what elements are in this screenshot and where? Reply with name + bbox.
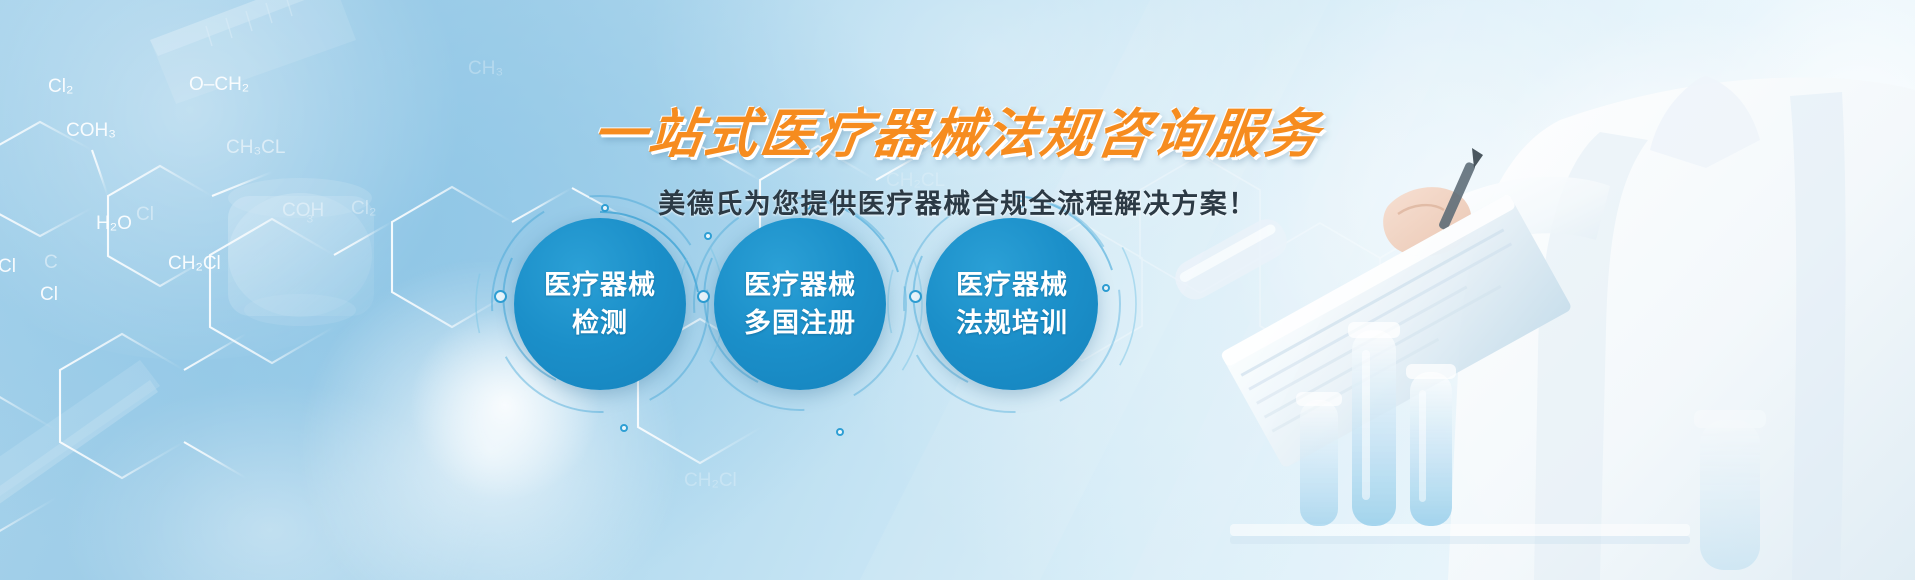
node-dot-icon	[697, 290, 710, 303]
node-dot-icon	[704, 232, 712, 240]
service-badge-row: 医疗器械 检测 医疗器械 多国注册 医疗器械 法规培训	[0, 0, 1915, 580]
node-dot-icon	[836, 428, 844, 436]
badge-label-line1: 医疗器械	[544, 266, 656, 304]
node-dot-icon	[494, 290, 507, 303]
service-badge-training[interactable]: 医疗器械 法规培训	[926, 218, 1098, 390]
badge-label-line2: 法规培训	[956, 304, 1068, 342]
badge-label-line1: 医疗器械	[956, 266, 1068, 304]
service-badge-registration[interactable]: 医疗器械 多国注册	[714, 218, 886, 390]
badge-label-line2: 检测	[572, 304, 628, 342]
node-dot-icon	[1102, 284, 1110, 292]
node-dot-icon	[601, 204, 609, 212]
node-dot-icon	[1017, 200, 1025, 208]
node-dot-icon	[620, 424, 628, 432]
badge-label-line2: 多国注册	[744, 304, 856, 342]
node-dot-icon	[909, 290, 922, 303]
service-badge-testing[interactable]: 医疗器械 检测	[514, 218, 686, 390]
node-dot-icon	[803, 202, 811, 210]
promo-banner: Cl₂ COH₃ O–CH₂ CH₃CL H₂O Cl Cl C Cl CH₂C…	[0, 0, 1915, 580]
badge-label-line1: 医疗器械	[744, 266, 856, 304]
